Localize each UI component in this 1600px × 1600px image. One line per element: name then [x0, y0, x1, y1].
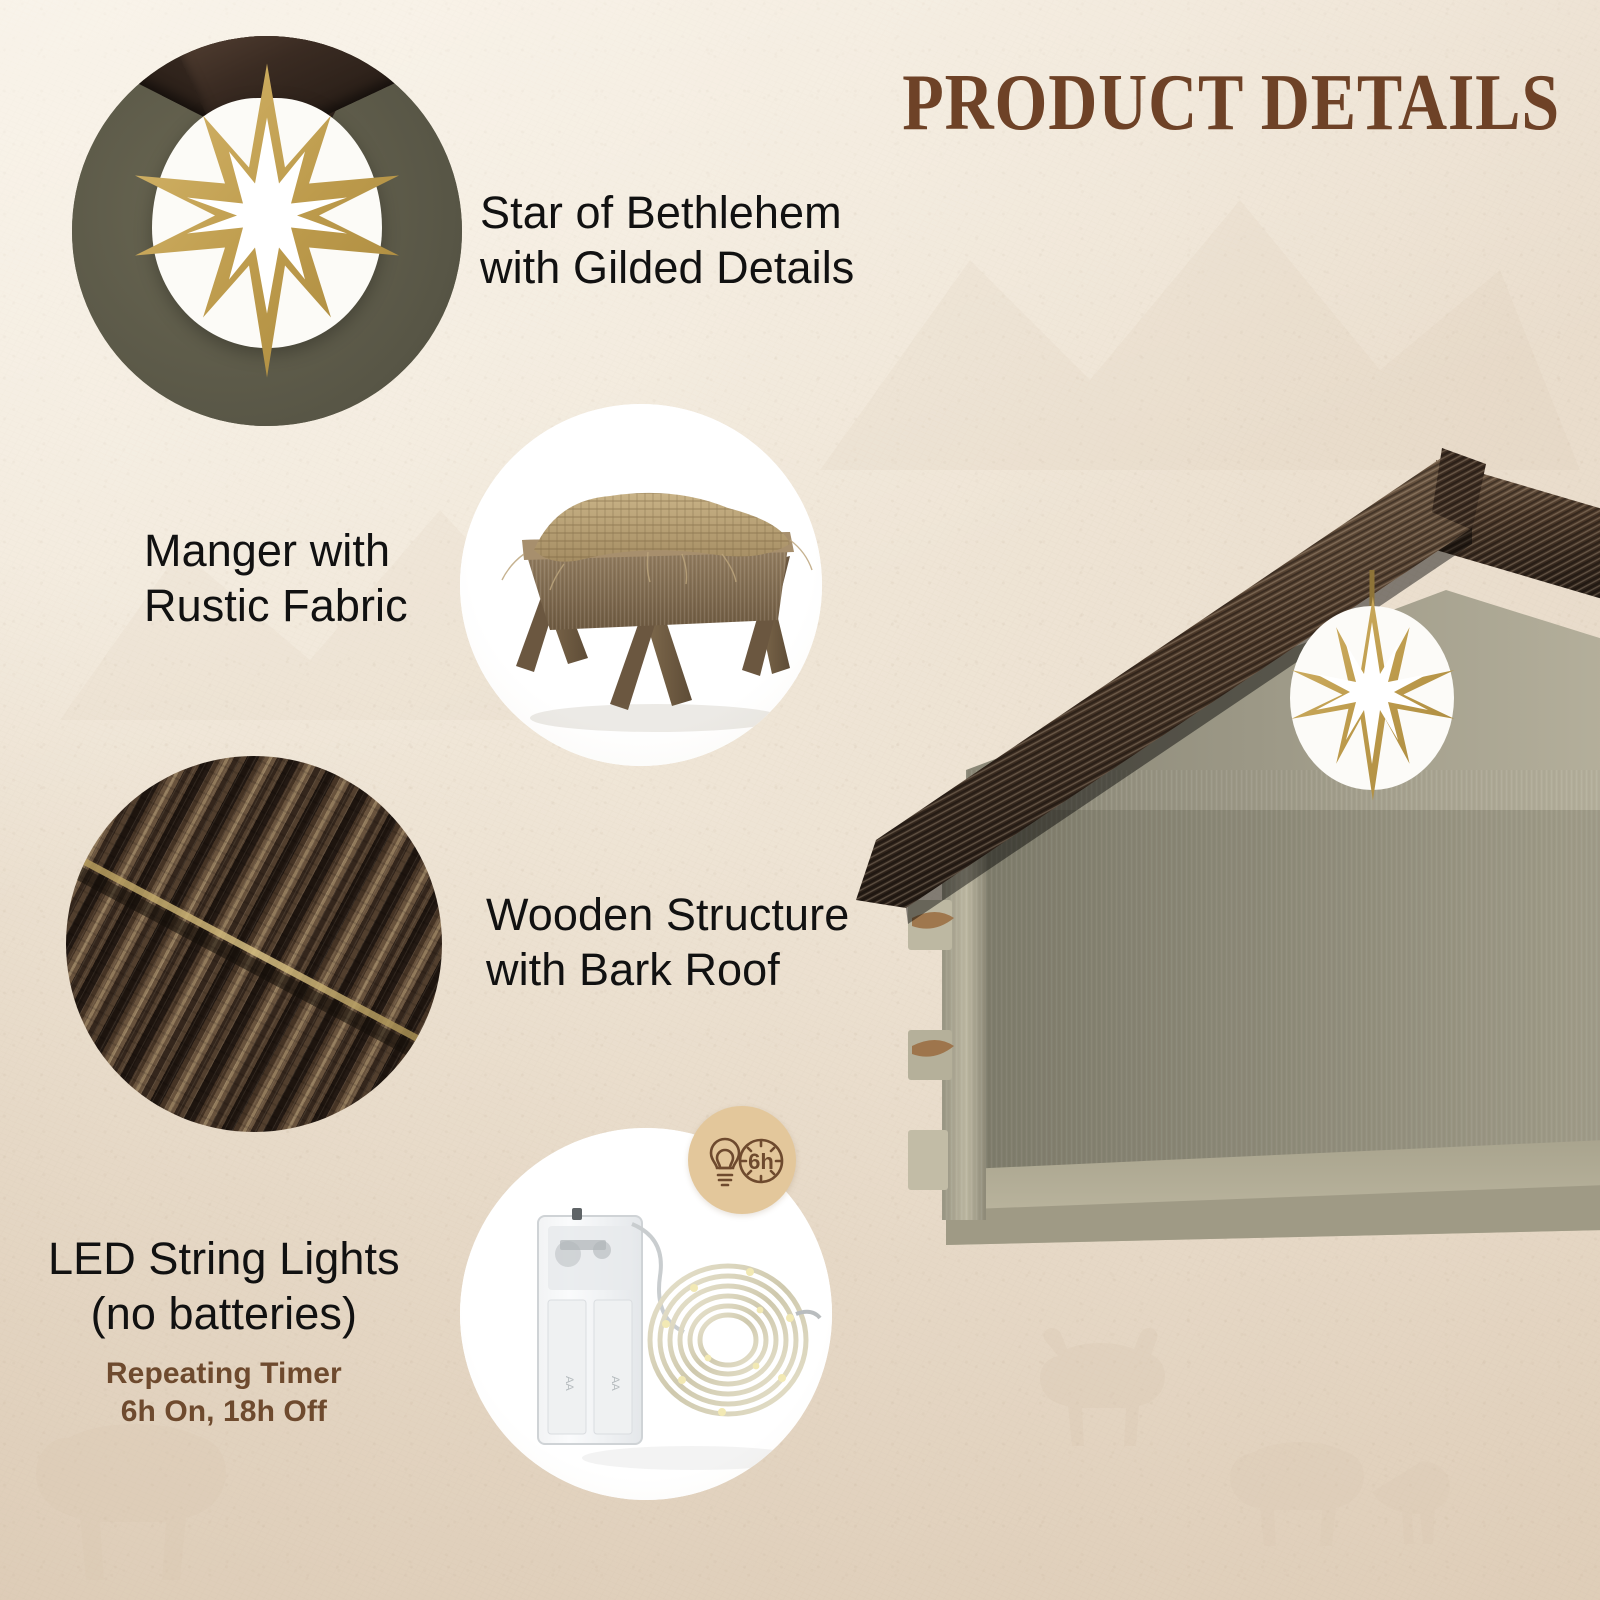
bulb-and-timer-icon: 6h [699, 1131, 785, 1189]
feature-label-manger: Manger with Rustic Fabric [144, 524, 408, 634]
badge-hours-text: 6h [748, 1149, 774, 1174]
feature-photo-star [72, 36, 462, 426]
light-bulb-icon [711, 1139, 739, 1168]
main-product-image [846, 340, 1600, 1260]
feature-label-star-line2: with Gilded Details [480, 241, 854, 296]
page-title: PRODUCT DETAILS [800, 62, 1560, 142]
feature-label-led-line1: LED String Lights [48, 1232, 400, 1287]
product-details-page: PRODUCT DETAILS [0, 0, 1600, 1600]
feature-photo-bark-texture [66, 756, 442, 1132]
feature-label-manger-line1: Manger with [144, 524, 408, 579]
gold-star-icon [117, 56, 417, 391]
feature-label-wood: Wooden Structure with Bark Roof [486, 888, 849, 998]
feature-label-led: LED String Lights (no batteries) Repeati… [48, 1232, 400, 1431]
feature-label-wood-line1: Wooden Structure [486, 888, 849, 943]
bark-texture-overlay [66, 756, 442, 1132]
feature-sublabel-led-line1: Repeating Timer [48, 1356, 400, 1393]
feature-label-star-line1: Star of Bethlehem [480, 186, 854, 241]
feature-photo-manger [460, 404, 822, 766]
timer-badge: 6h [688, 1106, 796, 1214]
svg-text:AA: AA [563, 1376, 575, 1391]
sheep-silhouette-watermark [1020, 1300, 1230, 1450]
feature-label-star: Star of Bethlehem with Gilded Details [480, 186, 854, 296]
svg-text:AA: AA [609, 1376, 621, 1391]
manger-illustration [460, 404, 822, 766]
feature-sublabel-led-line2: 6h On, 18h Off [48, 1394, 400, 1431]
feature-label-wood-line2: with Bark Roof [486, 943, 849, 998]
feature-label-led-line2: (no batteries) [48, 1287, 400, 1342]
sheep-silhouette-watermark [1222, 1406, 1452, 1556]
feature-label-manger-line2: Rustic Fabric [144, 579, 408, 634]
